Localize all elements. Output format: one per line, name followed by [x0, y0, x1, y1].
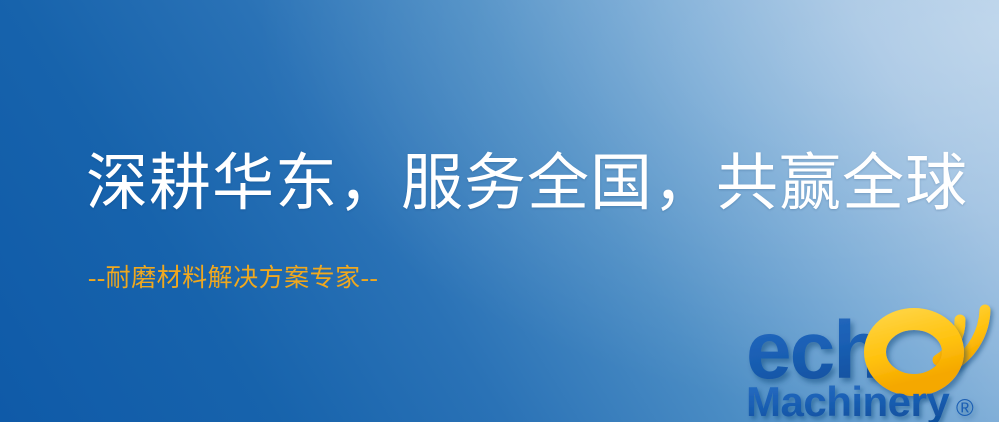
registered-mark: ®	[956, 395, 974, 422]
logo-artwork: ech Machinery ®	[742, 296, 999, 422]
svg-text:Machinery: Machinery	[746, 378, 950, 422]
banner-subheadline: --耐磨材料解决方案专家--	[88, 266, 378, 291]
echo-machinery-logo[interactable]: ech Machinery ®	[742, 296, 999, 422]
hero-banner: 深耕华东，服务全国，共赢全球 --耐磨材料解决方案专家--	[0, 0, 999, 422]
banner-headline: 深耕华东，服务全国，共赢全球	[86, 153, 968, 215]
logo-tagline: Machinery ®	[746, 378, 974, 422]
